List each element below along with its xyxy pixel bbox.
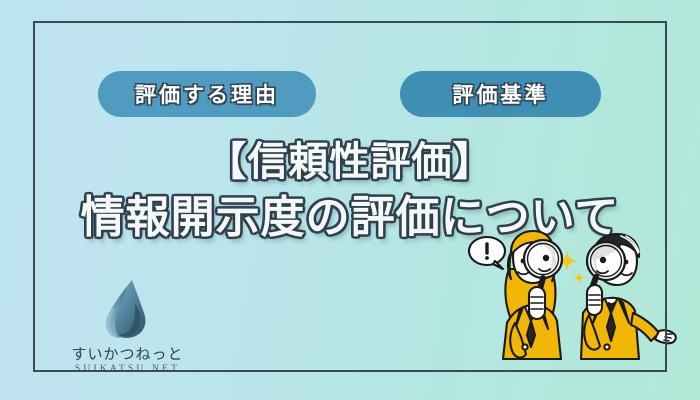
- tag-pill-criteria-label: 評価基準: [453, 79, 549, 109]
- eyecatch-banner: 評価する理由 評価基準 【信頼性評価】 情報開示度の評価について: [0, 0, 700, 400]
- tag-pill-reason: 評価する理由: [98, 71, 316, 117]
- tag-pill-reason-label: 評価する理由: [135, 79, 279, 109]
- tag-pill-row: 評価する理由 評価基準: [0, 71, 700, 117]
- logo-name-jp: すいかつねっと: [60, 346, 195, 363]
- title-line-1: 【信頼性評価】: [0, 139, 700, 186]
- tag-pill-criteria: 評価基準: [400, 71, 601, 117]
- site-logo: すいかつねっと SUIKATSU NET: [60, 278, 195, 374]
- logo-name-en: SUIKATSU NET: [60, 364, 195, 374]
- illustration-two-investigators: [463, 227, 678, 372]
- water-drop-icon: [91, 278, 165, 342]
